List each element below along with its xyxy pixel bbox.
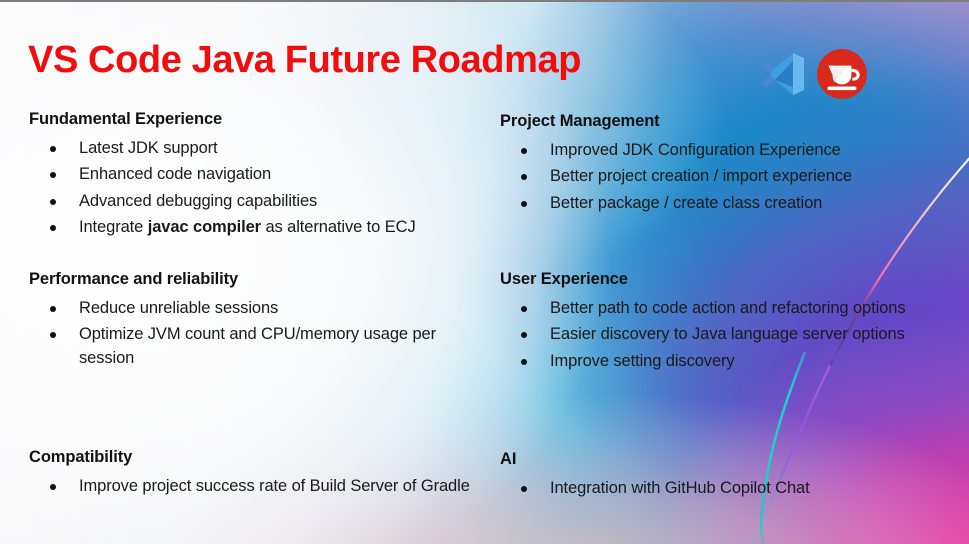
group-heading: AI: [500, 450, 930, 470]
list-item: Improve project success rate of Build Se…: [29, 475, 484, 498]
bullet-text: Better project creation / import experie…: [550, 167, 852, 185]
group-project-management: Project Management Improved JDK Configur…: [500, 112, 930, 218]
java-coffee-cup-icon: [816, 48, 868, 100]
bullet-text: Latest JDK support: [79, 139, 218, 157]
vscode-logo-icon: [758, 49, 808, 99]
list-item: Advanced debugging capabilities: [29, 190, 484, 213]
list-item: Improved JDK Configuration Experience: [500, 139, 930, 162]
group-ai: AI Integration with GitHub Copilot Chat: [500, 450, 930, 503]
list-item: Better project creation / import experie…: [500, 165, 930, 188]
bullet-text: Optimize JVM count and CPU/memory usage …: [79, 325, 436, 366]
bullet-text: Better path to code action and refactori…: [550, 299, 906, 317]
group-heading: Compatibility: [29, 448, 484, 468]
bullet-list: Latest JDK support Enhanced code navigat…: [29, 137, 484, 240]
bullet-list: Integration with GitHub Copilot Chat: [500, 477, 930, 500]
group-heading: Fundamental Experience: [29, 110, 484, 130]
group-heading: Performance and reliability: [29, 270, 484, 290]
list-item: Better path to code action and refactori…: [500, 297, 930, 320]
list-item: Better package / create class creation: [500, 192, 930, 215]
group-fundamental-experience: Fundamental Experience Latest JDK suppor…: [29, 110, 484, 242]
list-item: Integrate javac compiler as alternative …: [29, 216, 484, 239]
list-item: Latest JDK support: [29, 137, 484, 160]
bullet-list: Reduce unreliable sessions Optimize JVM …: [29, 297, 484, 370]
bullet-text-post: as alternative to ECJ: [261, 218, 416, 236]
page-title: VS Code Java Future Roadmap: [28, 41, 581, 81]
bullet-text: Integration with GitHub Copilot Chat: [550, 479, 810, 497]
list-item: Improve setting discovery: [500, 350, 930, 373]
list-item: Easier discovery to Java language server…: [500, 323, 930, 346]
group-performance-and-reliability: Performance and reliability Reduce unrel…: [29, 270, 484, 373]
bullet-text: Reduce unreliable sessions: [79, 299, 278, 317]
bullet-list: Improved JDK Configuration Experience Be…: [500, 139, 930, 215]
list-item: Enhanced code navigation: [29, 163, 484, 186]
bullet-text: Improve setting discovery: [550, 352, 735, 370]
slide-canvas: VS Code Java Future Roadmap: [0, 0, 969, 544]
list-item: Optimize JVM count and CPU/memory usage …: [29, 323, 484, 370]
bullet-text-pre: Integrate: [79, 218, 148, 236]
group-user-experience: User Experience Better path to code acti…: [500, 270, 930, 376]
bullet-text: Easier discovery to Java language server…: [550, 325, 905, 343]
bullet-list: Better path to code action and refactori…: [500, 297, 930, 373]
group-compatibility: Compatibility Improve project success ra…: [29, 448, 484, 501]
bullet-text: Improve project success rate of Build Se…: [79, 477, 470, 495]
bullet-text: Improved JDK Configuration Experience: [550, 141, 841, 159]
logo-group: [758, 48, 868, 100]
bullet-text-bold: javac compiler: [148, 218, 261, 236]
bullet-text: Enhanced code navigation: [79, 165, 271, 183]
slide-content: VS Code Java Future Roadmap: [0, 2, 969, 544]
bullet-text: Advanced debugging capabilities: [79, 192, 317, 210]
list-item: Reduce unreliable sessions: [29, 297, 484, 320]
group-heading: Project Management: [500, 112, 930, 132]
list-item: Integration with GitHub Copilot Chat: [500, 477, 930, 500]
bullet-text: Better package / create class creation: [550, 194, 822, 212]
group-heading: User Experience: [500, 270, 930, 290]
bullet-list: Improve project success rate of Build Se…: [29, 475, 484, 498]
